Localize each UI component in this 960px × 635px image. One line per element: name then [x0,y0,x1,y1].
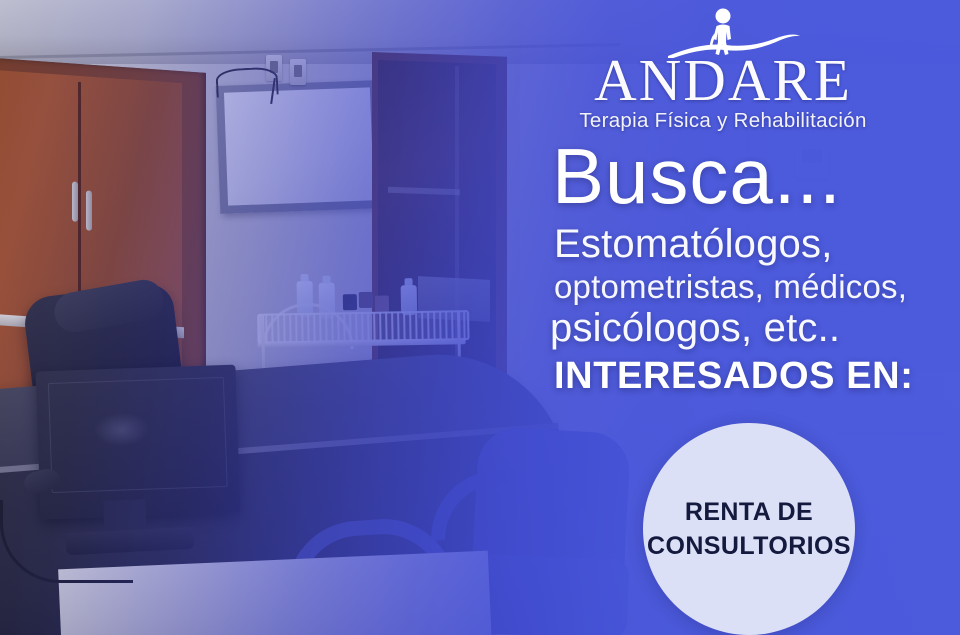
professions-line-1: Estomatólogos, [554,222,833,266]
offer-badge-line-2: CONSULTORIOS [647,529,851,563]
professions-line-2: optometristas, médicos, [554,268,907,306]
walking-person-with-cane-icon [548,6,898,58]
professions-line-3: psicólogos, etc.. [550,305,840,351]
poster-canvas: ANDARE Terapia Física y Rehabilitación B… [0,0,960,635]
brand-tagline: Terapia Física y Rehabilitación [548,109,898,133]
poster-content: ANDARE Terapia Física y Rehabilitación B… [0,0,960,635]
headline-busca: Busca... [552,137,842,215]
offer-badge: RENTA DE CONSULTORIOS [643,423,855,635]
offer-badge-line-1: RENTA DE [685,495,813,529]
brand-wordmark: ANDARE [548,52,898,108]
interested-label: INTERESADOS EN: [554,355,913,397]
brand-logo: ANDARE Terapia Física y Rehabilitación [548,6,898,133]
